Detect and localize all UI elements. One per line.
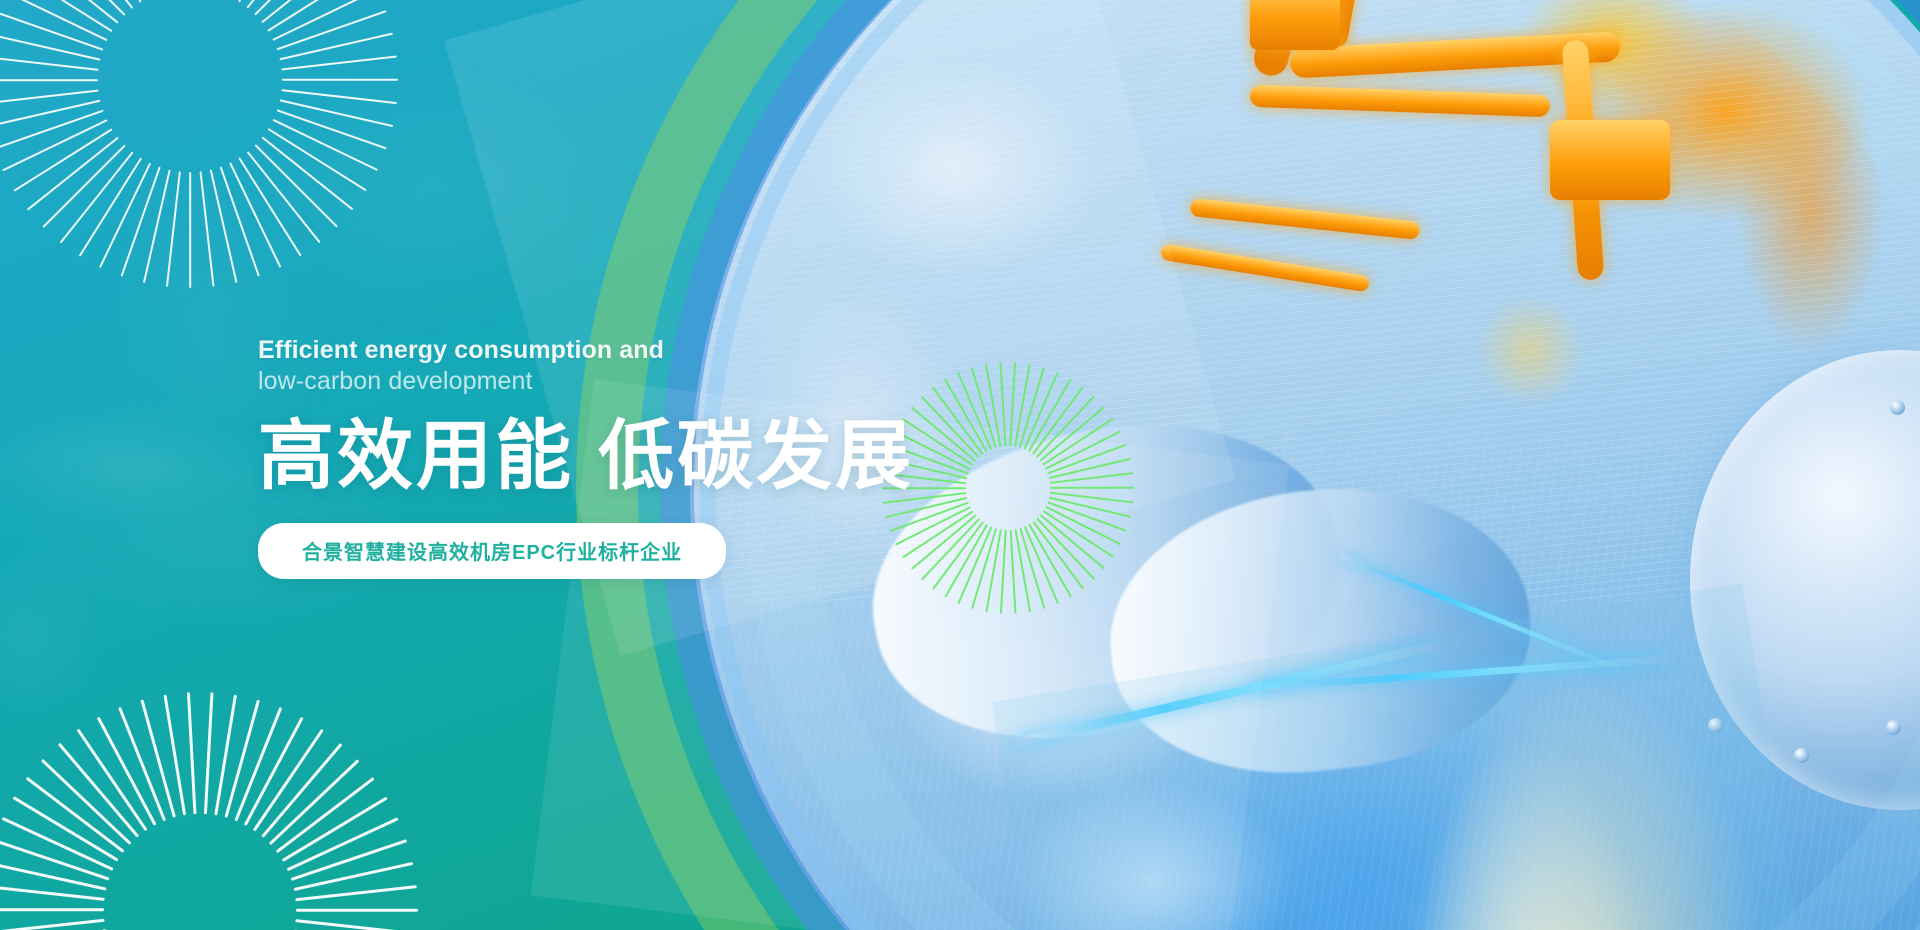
flange-bolt xyxy=(1890,400,1905,415)
hero-copy-block: Efficient energy consumption and low-car… xyxy=(258,335,958,579)
eyebrow-line-2: low-carbon development xyxy=(258,365,958,397)
eyebrow-line-1: Efficient energy consumption and xyxy=(258,335,958,365)
page-title: 高效用能 低碳发展 xyxy=(258,415,958,499)
hero-banner: Efficient energy consumption and low-car… xyxy=(0,0,1920,930)
flange-bolt xyxy=(1794,748,1809,763)
flange-bolt xyxy=(1708,718,1723,733)
tagline-pill-label: 合景智慧建设高效机房EPC行业标杆企业 xyxy=(302,542,682,564)
orange-valve-block-2 xyxy=(1550,120,1670,200)
tagline-pill[interactable]: 合景智慧建设高效机房EPC行业标杆企业 xyxy=(258,523,726,579)
orange-valve-block xyxy=(1250,0,1340,50)
flange-bolt xyxy=(1886,720,1901,735)
